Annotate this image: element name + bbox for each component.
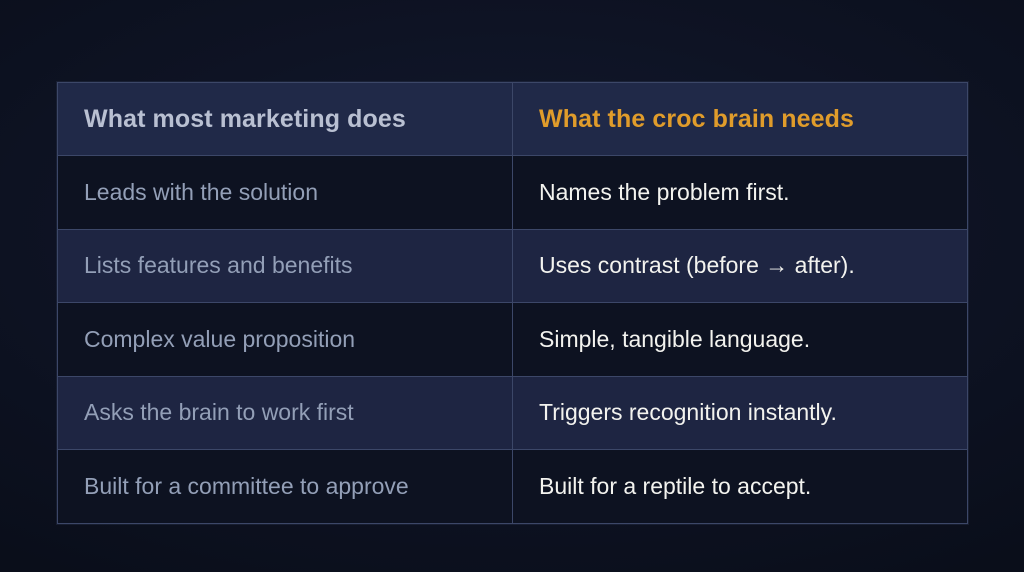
- cell-marketing-5: Built for a committee to approve: [58, 450, 513, 524]
- table-row: Complex value proposition Simple, tangib…: [58, 303, 968, 377]
- cell-croc-brain-2: Uses contrast (before → after).: [513, 229, 968, 303]
- comparison-table: What most marketing does What the croc b…: [57, 82, 968, 524]
- table-row: Built for a committee to approve Built f…: [58, 450, 968, 524]
- table-body: Leads with the solution Names the proble…: [58, 156, 968, 524]
- cell-marketing-4: Asks the brain to work first: [58, 376, 513, 450]
- cell-croc-brain-4: Triggers recognition instantly.: [513, 376, 968, 450]
- cell-croc-brain-3: Simple, tangible language.: [513, 303, 968, 377]
- table-header: What most marketing does What the croc b…: [58, 83, 968, 156]
- cell-croc-brain-5: Built for a reptile to accept.: [513, 450, 968, 524]
- cell-marketing-3: Complex value proposition: [58, 303, 513, 377]
- cell-marketing-2: Lists features and benefits: [58, 229, 513, 303]
- cell-marketing-1: Leads with the solution: [58, 156, 513, 230]
- column-header-marketing: What most marketing does: [58, 83, 513, 156]
- table-row: Asks the brain to work first Triggers re…: [58, 376, 968, 450]
- cell-croc-brain-1: Names the problem first.: [513, 156, 968, 230]
- table-header-row: What most marketing does What the croc b…: [58, 83, 968, 156]
- table-row: Leads with the solution Names the proble…: [58, 156, 968, 230]
- table-row: Lists features and benefits Uses contras…: [58, 229, 968, 303]
- column-header-croc-brain: What the croc brain needs: [513, 83, 968, 156]
- slide-canvas: What most marketing does What the croc b…: [0, 0, 1024, 572]
